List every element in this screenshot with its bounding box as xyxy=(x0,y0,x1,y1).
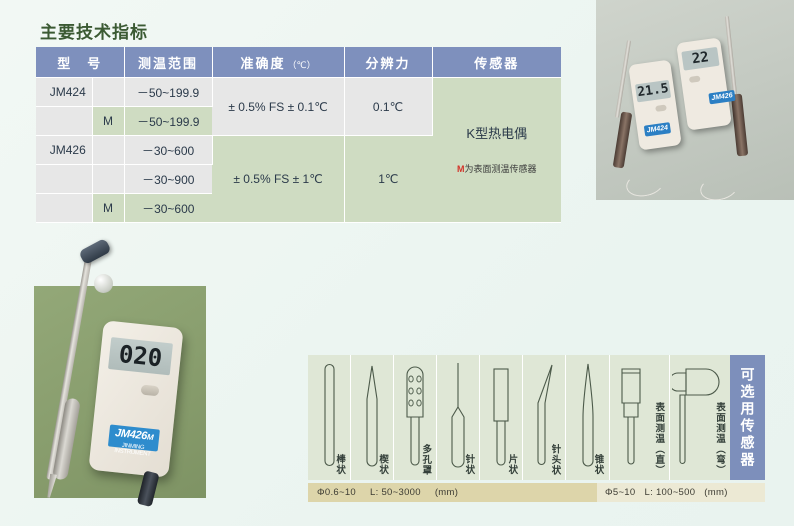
model-badge-suffix: M xyxy=(147,432,154,442)
lcd-display-b: 22 xyxy=(681,47,719,71)
cell-accuracy: ± 0.5% FS ± 0.1℃ xyxy=(212,78,344,136)
sensor-spec-row: Φ0.6~10 L: 50~3000 (mm) Φ5~10 L: 100~500… xyxy=(308,483,765,502)
sensor-spec-right: Φ5~10 L: 100~500 (mm) xyxy=(597,483,765,502)
cell-m-flag: M xyxy=(92,194,124,223)
sensor-option-perforated-cover[interactable]: 多孔罩 xyxy=(394,355,437,480)
col-header-model: 型 号 xyxy=(36,47,124,78)
cell-sensor: K型热电偶 M为表面测温传感器 xyxy=(432,78,561,223)
sensor-option-label: 楔状 xyxy=(377,454,388,475)
table-row: JM424 －50~199.9 ± 0.5% FS ± 0.1℃ 0.1℃ K型… xyxy=(36,78,561,107)
sensor-option-label: 表面测温（弯） xyxy=(714,402,725,476)
cell-model xyxy=(36,107,92,136)
cell-range: －30~600 xyxy=(124,194,212,223)
sensor-option-rod[interactable]: 棒状 xyxy=(308,355,351,480)
model-badge-a: JM424 xyxy=(644,122,671,137)
sensor-option-surface-straight[interactable]: 表面测温（直） xyxy=(610,355,671,480)
sensor-option-label: 棒状 xyxy=(334,454,345,475)
model-badge-m: JM426M JINMING INSTRUMENT xyxy=(108,424,160,451)
sensor-option-label: 针状 xyxy=(463,454,474,475)
spec-diameter: Φ5~10 xyxy=(605,487,635,498)
cell-m-flag xyxy=(92,165,124,194)
product-photo-thermometers: 21.5 JM424 22 JM426 xyxy=(596,0,794,200)
cell-accuracy: ± 0.5% FS ± 1℃ xyxy=(212,136,344,223)
cell-model: JM424 xyxy=(36,78,92,107)
sensor-option-hypodermic[interactable]: 针头状 xyxy=(523,355,566,480)
product-photo-jm426m: 020 JM426M JINMING INSTRUMENT xyxy=(34,286,206,498)
sensor-panel-sidebar-label: 可选用传感器 xyxy=(730,355,765,480)
sensor-option-label: 多孔罩 xyxy=(420,444,431,476)
power-button-b[interactable] xyxy=(689,76,701,83)
spec-length: L: 100~500 xyxy=(644,487,695,498)
sensor-note-text: 为表面测温传感器 xyxy=(465,164,537,174)
sensor-option-cone[interactable]: 锥状 xyxy=(566,355,609,480)
sensor-options-row: 棒状 楔状 xyxy=(308,355,730,480)
col-header-accuracy: 准确度（℃） xyxy=(212,47,344,78)
sensor-note-prefix: M xyxy=(457,164,465,174)
sensor-option-wedge[interactable]: 楔状 xyxy=(351,355,394,480)
col-header-sensor: 传感器 xyxy=(432,47,561,78)
lcd-display-a: 21.5 xyxy=(635,80,671,103)
spec-unit: (mm) xyxy=(704,487,727,498)
sensor-note: M为表面测温传感器 xyxy=(434,161,561,178)
sensor-spec-left: Φ0.6~10 L: 50~3000 (mm) xyxy=(308,483,597,502)
sensor-options-panel: 棒状 楔状 xyxy=(308,355,765,502)
sensor-option-label: 针头状 xyxy=(549,444,560,476)
brand-line: JINMING INSTRUMENT xyxy=(107,441,158,458)
col-header-accuracy-unit: （℃） xyxy=(287,60,315,70)
sensor-option-label: 表面测温（直） xyxy=(653,402,664,476)
col-header-resolution: 分辨力 xyxy=(344,47,432,78)
lcd-display-m: 020 xyxy=(108,337,173,375)
col-header-range: 测温范围 xyxy=(124,47,212,78)
cell-range: －30~900 xyxy=(124,165,212,194)
page-title: 主要技术指标 xyxy=(40,18,148,43)
table-header-row: 型 号 测温范围 准确度（℃） 分辨力 传感器 xyxy=(36,47,561,78)
sensor-option-surface-bent[interactable]: 表面测温（弯） xyxy=(670,355,730,480)
cell-resolution: 0.1℃ xyxy=(344,78,432,136)
thermometer-device-jm426m: 020 JM426M JINMING INSTRUMENT xyxy=(88,320,183,478)
cell-range: －50~199.9 xyxy=(124,78,212,107)
sensor-option-label: 片状 xyxy=(506,454,517,475)
sensor-option-flat-blade[interactable]: 片状 xyxy=(480,355,523,480)
calibration-ball xyxy=(94,274,113,293)
sensor-option-needle[interactable]: 针状 xyxy=(437,355,480,480)
cell-range: －30~600 xyxy=(124,136,212,165)
model-badge-text: JM426 xyxy=(114,427,147,442)
sensor-type-label: K型热电偶 xyxy=(434,122,561,147)
cell-model: JM426 xyxy=(36,136,92,165)
power-button-m[interactable] xyxy=(141,385,160,397)
cell-resolution: 1℃ xyxy=(344,136,432,223)
cell-m-flag xyxy=(92,78,124,107)
spec-diameter: Φ0.6~10 xyxy=(317,487,356,498)
cell-model xyxy=(36,194,92,223)
spec-table: 型 号 测温范围 准确度（℃） 分辨力 传感器 JM424 －50~199.9 … xyxy=(36,47,561,223)
power-button-a[interactable] xyxy=(655,104,667,111)
surface-probe-head xyxy=(78,238,112,265)
spec-unit: (mm) xyxy=(435,487,458,498)
cell-m-flag xyxy=(92,136,124,165)
cell-model xyxy=(36,165,92,194)
spec-length: L: 50~3000 xyxy=(370,487,421,498)
cell-range: －50~199.9 xyxy=(124,107,212,136)
cell-m-flag: M xyxy=(92,107,124,136)
sensor-option-label: 锥状 xyxy=(593,454,604,475)
